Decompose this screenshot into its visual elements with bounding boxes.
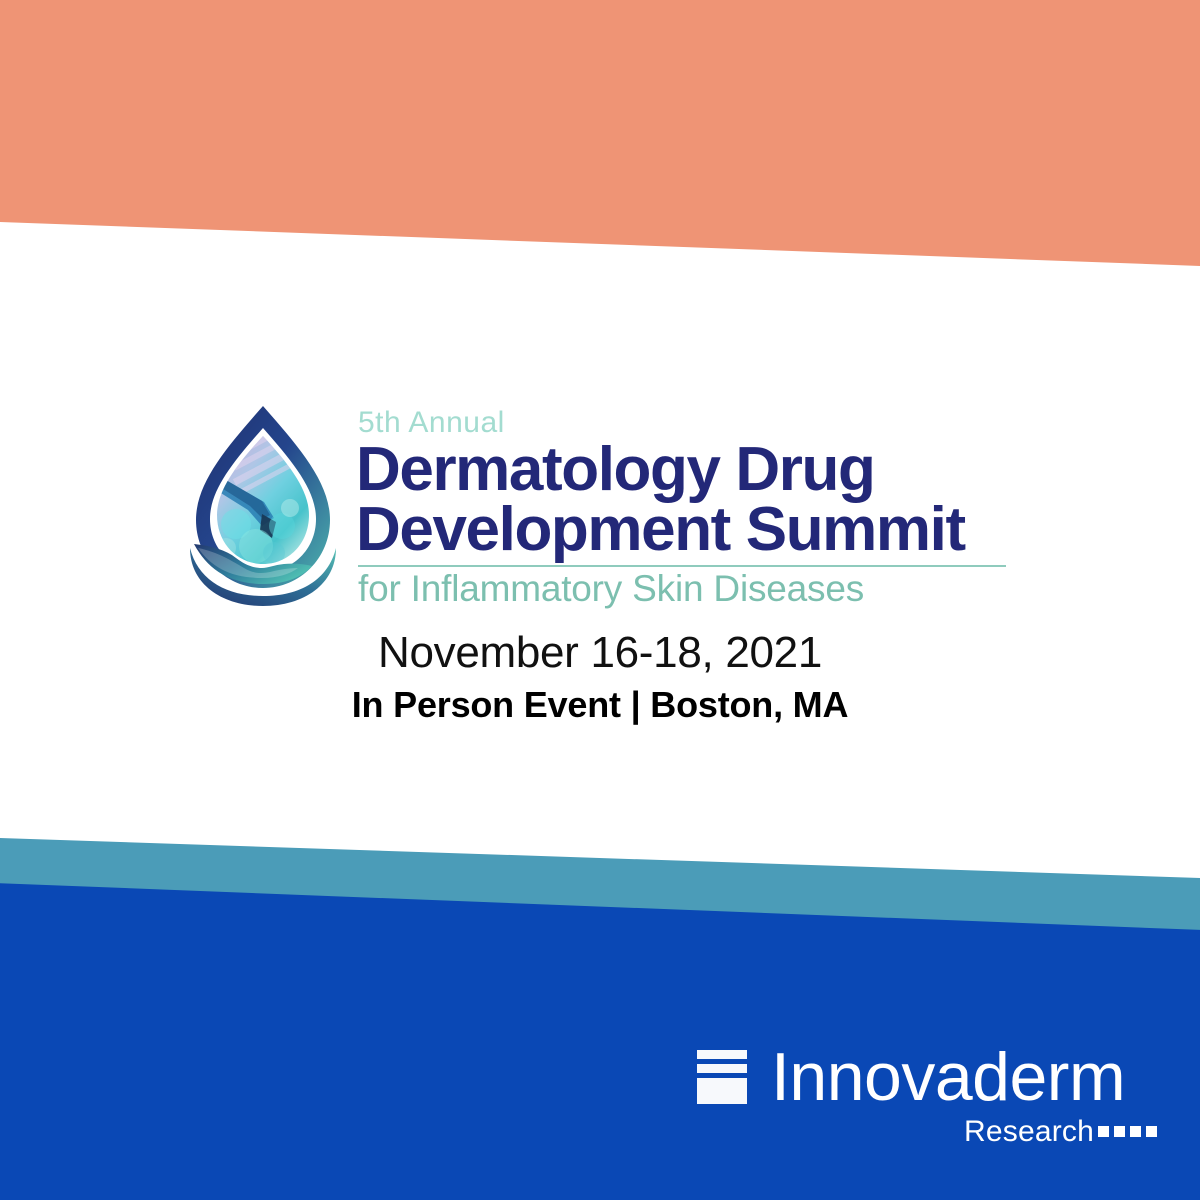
event-title-line-1: Dermatology Drug xyxy=(356,440,1008,500)
sponsor-name: Innovaderm xyxy=(771,1043,1125,1111)
teal-band xyxy=(0,830,1200,940)
sponsor-dot xyxy=(1114,1126,1125,1137)
sponsor-dots xyxy=(1098,1126,1157,1137)
sponsor-dot xyxy=(1130,1126,1141,1137)
orange-band xyxy=(0,0,1200,270)
event-details: November 16-18, 2021 In Person Event | B… xyxy=(0,628,1200,726)
sponsor-primary-row: Innovaderm xyxy=(697,1045,1157,1109)
event-title-line-2: Development Summit xyxy=(356,500,1008,560)
event-logo-lockup: 5th Annual Dermatology Drug Development … xyxy=(178,398,1008,620)
bar-top xyxy=(697,1050,747,1059)
sponsor-tagline: Research xyxy=(964,1117,1094,1147)
sponsor-dot xyxy=(1098,1126,1109,1137)
sponsor-dot xyxy=(1146,1126,1157,1137)
event-date: November 16-18, 2021 xyxy=(0,628,1200,677)
event-location: In Person Event | Boston, MA xyxy=(0,683,1200,726)
event-subtitle: for Inflammatory Skin Diseases xyxy=(358,570,1008,607)
bar-middle xyxy=(697,1064,747,1073)
title-divider xyxy=(358,565,1006,567)
water-droplet-in-hand-icon xyxy=(178,398,348,620)
sponsor-sub-row: Research xyxy=(697,1117,1157,1147)
event-wordmark: 5th Annual Dermatology Drug Development … xyxy=(354,398,1008,607)
promo-card: 5th Annual Dermatology Drug Development … xyxy=(0,0,1200,1200)
event-edition: 5th Annual xyxy=(358,408,1008,438)
sponsor-logo: Innovaderm Research xyxy=(697,1045,1157,1155)
bar-bottom xyxy=(697,1078,747,1104)
three-stacked-bars-icon xyxy=(697,1050,747,1104)
